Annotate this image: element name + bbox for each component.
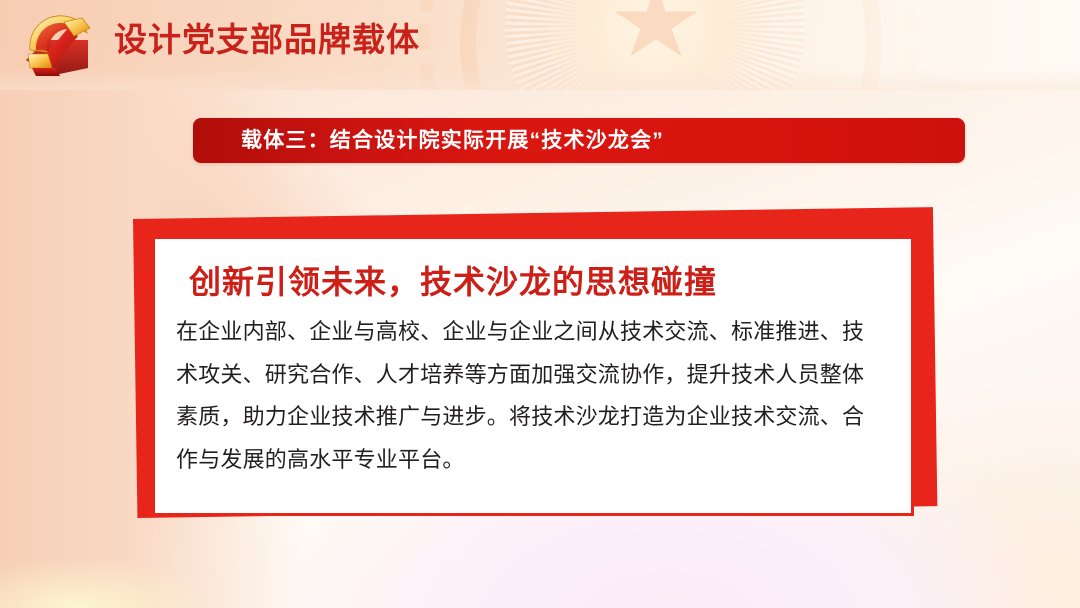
section-banner-label: 载体三：结合设计院实际开展“技术沙龙会” xyxy=(241,118,664,163)
content-card-body-line: 作与发展的高水平专业平台。 xyxy=(176,439,896,482)
section-banner: 载体三：结合设计院实际开展“技术沙龙会” xyxy=(193,118,965,163)
content-card: 创新引领未来，技术沙龙的思想碰撞 在企业内部、企业与高校、企业与企业之间从技术交… xyxy=(152,236,914,516)
content-card-body: 在企业内部、企业与高校、企业与企业之间从技术交流、标准推进、技 术攻关、研究合作… xyxy=(176,311,896,481)
slide-canvas: 设计党支部品牌载体 载体三：结合设计院实际开展“技术沙龙会” 创新引领未来，技术… xyxy=(0,0,1080,608)
content-card-heading: 创新引领未来，技术沙龙的思想碰撞 xyxy=(189,257,717,303)
background-bottom-glow xyxy=(0,518,260,608)
header-bottom-fade xyxy=(0,68,1080,90)
cpc-hammer-sickle-emblem-icon xyxy=(16,6,98,84)
page-title: 设计党支部品牌载体 xyxy=(114,18,420,62)
content-card-body-line: 术攻关、研究合作、人才培养等方面加强交流协作，提升技术人员整体 xyxy=(176,354,896,397)
content-card-body-line: 素质，助力企业技术推广与进步。将技术沙龙打造为企业技术交流、合 xyxy=(176,396,896,439)
content-card-body-line: 在企业内部、企业与高校、企业与企业之间从技术交流、标准推进、技 xyxy=(176,311,896,354)
